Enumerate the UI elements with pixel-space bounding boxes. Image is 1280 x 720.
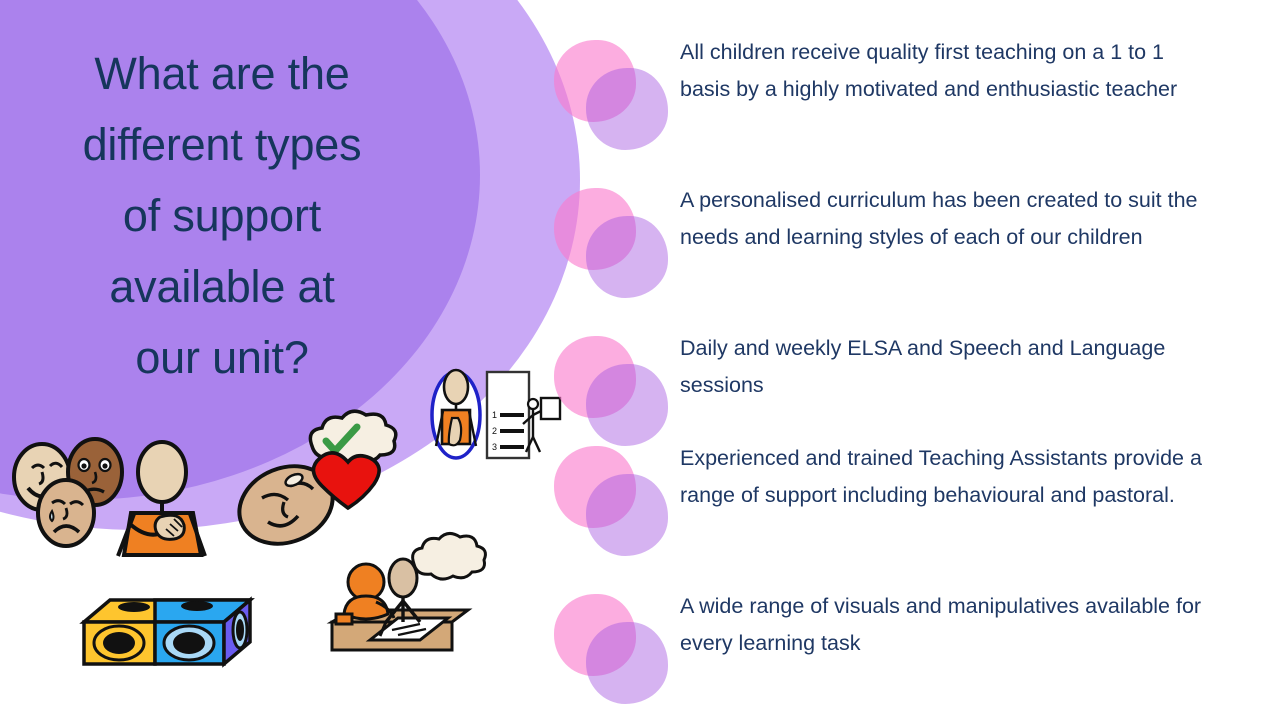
slide-canvas: What are the different types of support … [0,0,1280,720]
bullet-blob-icon [548,588,668,703]
blob-purple-shape [586,474,668,556]
bullet-blob-icon [548,34,668,149]
page-title-line-1: What are the [22,38,422,109]
bullet-text: Experienced and trained Teaching Assista… [680,440,1220,514]
page-title-line-4: available at [22,251,422,322]
bullet-text: A personalised curriculum has been creat… [680,182,1220,256]
bullet-text: Daily and weekly ELSA and Speech and Lan… [680,330,1220,404]
blob-purple-shape [586,364,668,446]
blob-purple-shape [586,622,668,704]
page-title-line-5: our unit? [22,322,422,393]
blob-purple-shape [586,68,668,150]
board-number-2: 2 [492,426,497,436]
connecting-cubes-icon [84,600,250,664]
page-title-line-2: different types [22,109,422,180]
board-number-3: 3 [492,442,497,452]
bullet-blob-icon [548,440,668,555]
bullet-blob-icon [548,330,668,445]
support-bullet-list: All children receive quality first teach… [540,0,1280,720]
board-number-1: 1 [492,410,497,420]
desk-adult-child-icon [332,533,485,650]
bullet-text: A wide range of visuals and manipulative… [680,588,1220,662]
page-title-line-3: of support [22,180,422,251]
bullet-text: All children receive quality first teach… [680,34,1220,108]
page-title: What are the different types of support … [22,38,422,393]
bullet-blob-icon [548,182,668,297]
blob-purple-shape [586,216,668,298]
